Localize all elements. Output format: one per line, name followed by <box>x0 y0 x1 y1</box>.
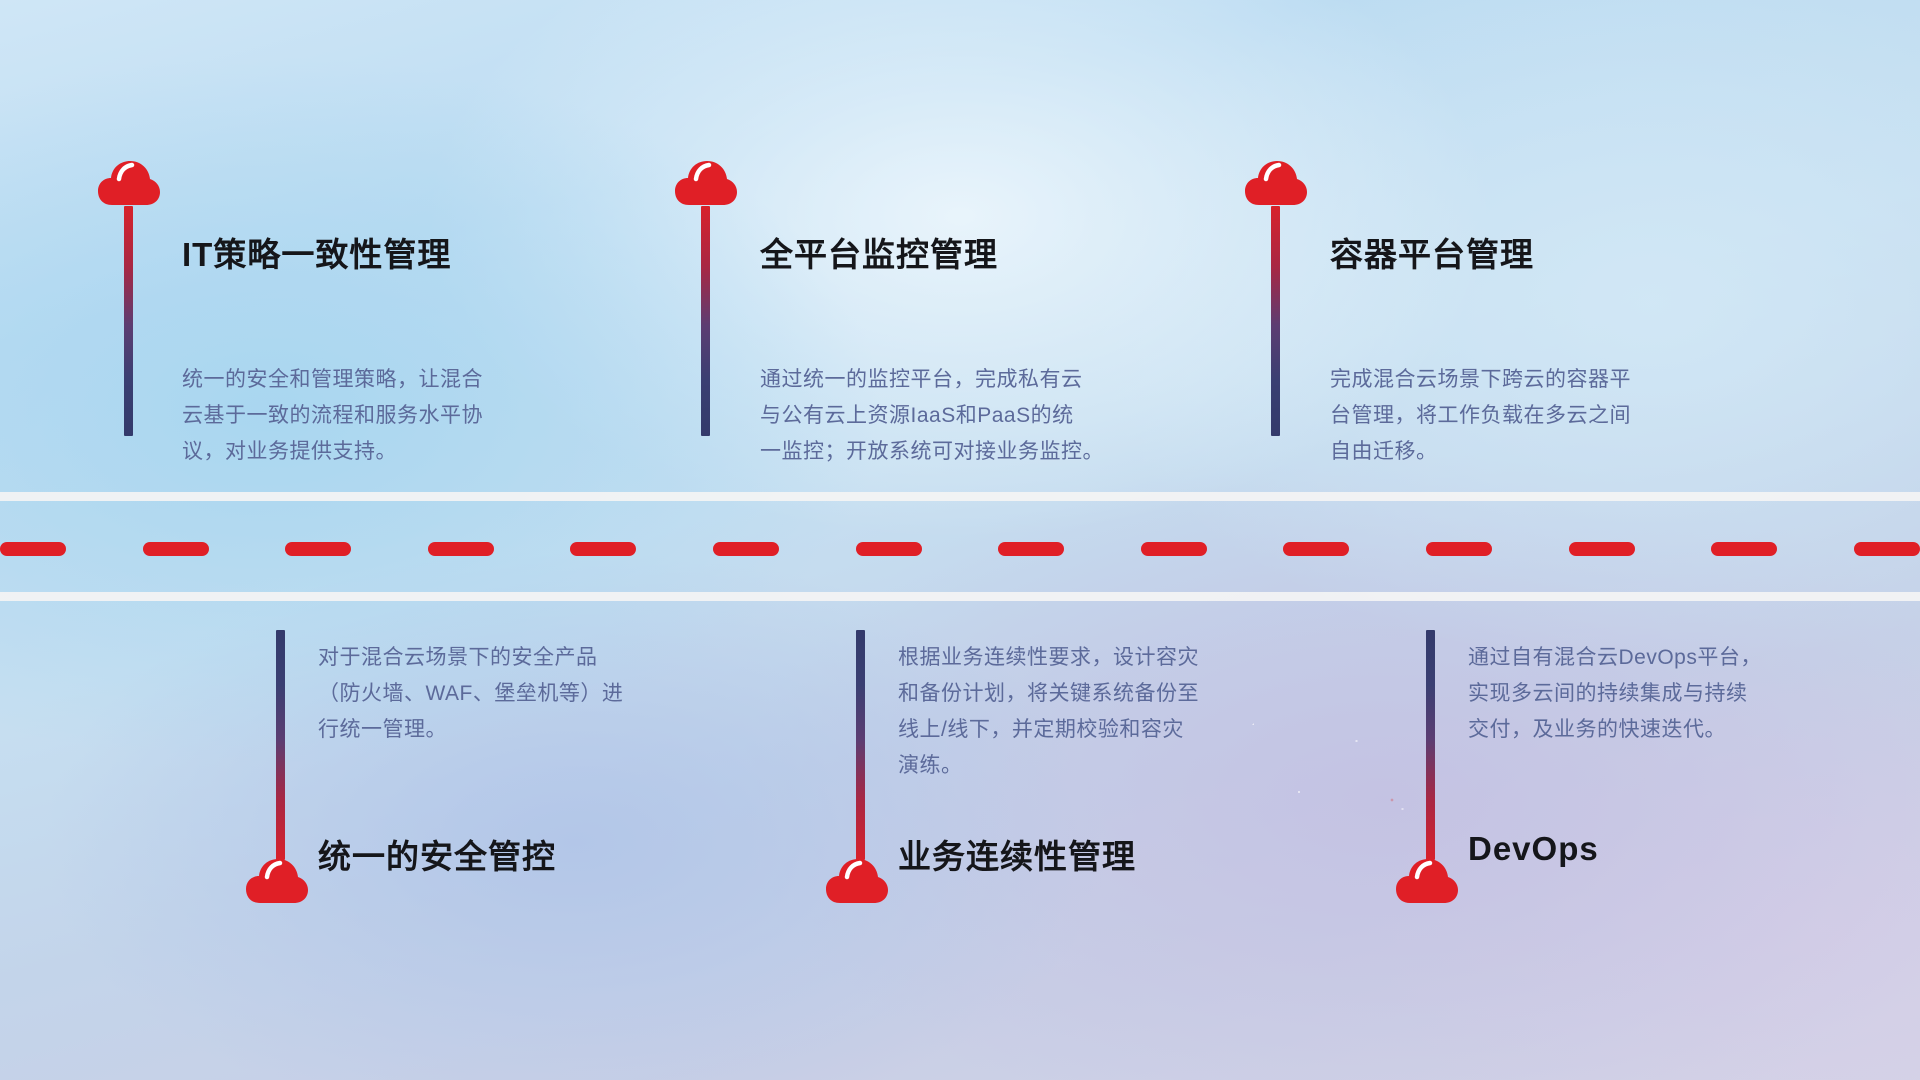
card-bottom-1[interactable] <box>250 630 308 904</box>
cloud-icon <box>246 858 308 904</box>
road-dash <box>1569 542 1635 556</box>
pin-bar-bottom-2 <box>856 630 865 860</box>
body-line: 通过统一的监控平台，完成私有云 <box>760 362 1104 398</box>
card-bottom-2-title: 业务连续性管理 <box>898 830 1136 878</box>
cloud-icon <box>1245 160 1307 206</box>
pin-bar-top-1 <box>124 206 133 436</box>
body-line: 完成混合云场景下跨云的容器平 <box>1330 362 1631 398</box>
body-line: 行统一管理。 <box>318 712 623 748</box>
road-dash <box>1854 542 1920 556</box>
card-top-2-body: 通过统一的监控平台，完成私有云 与公有云上资源IaaS和PaaS的统 一监控；开… <box>760 362 1104 470</box>
road-dash <box>0 542 66 556</box>
road-dash <box>1711 542 1777 556</box>
card-top-2[interactable] <box>675 160 737 436</box>
road-dash <box>285 542 351 556</box>
body-line: 自由迁移。 <box>1330 434 1631 470</box>
infographic-canvas: IT策略一致性管理 统一的安全和管理策略，让混合 云基于一致的流程和服务水平协 … <box>0 0 1920 1080</box>
body-line: 根据业务连续性要求，设计容灾 <box>898 640 1199 676</box>
road-dash <box>570 542 636 556</box>
cloud-icon <box>675 160 737 206</box>
body-line: 统一的安全和管理策略，让混合 <box>182 362 483 398</box>
body-line: 演练。 <box>898 748 1199 784</box>
body-line: 一监控；开放系统可对接业务监控。 <box>760 434 1104 470</box>
card-bottom-2-body: 根据业务连续性要求，设计容灾 和备份计划，将关键系统备份至 线上/线下，并定期校… <box>898 640 1199 784</box>
card-bottom-1-body: 对于混合云场景下的安全产品 （防火墙、WAF、堡垒机等）进 行统一管理。 <box>318 640 623 748</box>
body-line: 通过自有混合云DevOps平台， <box>1468 640 1762 676</box>
marker-bottom-3 <box>1400 630 1458 904</box>
cloud-icon <box>98 160 160 206</box>
road-dash <box>143 542 209 556</box>
pin-bar-bottom-1 <box>276 630 285 860</box>
marker-top-2 <box>675 160 737 436</box>
marker-bottom-1 <box>250 630 308 904</box>
body-line: 议，对业务提供支持。 <box>182 434 483 470</box>
body-line: 云基于一致的流程和服务水平协 <box>182 398 483 434</box>
body-line: 与公有云上资源IaaS和PaaS的统 <box>760 398 1104 434</box>
road-dash <box>1426 542 1492 556</box>
body-line: 和备份计划，将关键系统备份至 <box>898 676 1199 712</box>
card-top-1-body: 统一的安全和管理策略，让混合 云基于一致的流程和服务水平协 议，对业务提供支持。 <box>182 362 483 470</box>
card-top-3-body: 完成混合云场景下跨云的容器平 台管理，将工作负载在多云之间 自由迁移。 <box>1330 362 1631 470</box>
body-line: 实现多云间的持续集成与持续 <box>1468 676 1762 712</box>
marker-top-3 <box>1245 160 1307 436</box>
card-bottom-3-body: 通过自有混合云DevOps平台， 实现多云间的持续集成与持续 交付，及业务的快速… <box>1468 640 1762 748</box>
body-line: 线上/线下，并定期校验和容灾 <box>898 712 1199 748</box>
road-dashed-centerline <box>0 542 1920 556</box>
body-line: 对于混合云场景下的安全产品 <box>318 640 623 676</box>
card-top-1[interactable] <box>98 160 160 436</box>
card-bottom-3[interactable] <box>1400 630 1458 904</box>
card-top-3[interactable] <box>1245 160 1307 436</box>
pin-bar-bottom-3 <box>1426 630 1435 860</box>
body-line: （防火墙、WAF、堡垒机等）进 <box>318 676 623 712</box>
card-bottom-3-title: DevOps <box>1468 830 1599 868</box>
body-line: 交付，及业务的快速迭代。 <box>1468 712 1762 748</box>
pin-bar-top-3 <box>1271 206 1280 436</box>
road-dash <box>1141 542 1207 556</box>
cloud-icon <box>826 858 888 904</box>
road-dash <box>856 542 922 556</box>
road-dash <box>713 542 779 556</box>
body-line: 台管理，将工作负载在多云之间 <box>1330 398 1631 434</box>
road-dash <box>1283 542 1349 556</box>
card-bottom-2[interactable] <box>830 630 888 904</box>
marker-top-1 <box>98 160 160 436</box>
pin-bar-top-2 <box>701 206 710 436</box>
road-dash <box>998 542 1064 556</box>
road-line-top <box>0 492 1920 501</box>
marker-bottom-2 <box>830 630 888 904</box>
road-dash <box>428 542 494 556</box>
card-top-2-title: 全平台监控管理 <box>760 228 998 276</box>
cloud-icon <box>1396 858 1458 904</box>
card-top-3-title: 容器平台管理 <box>1330 228 1534 276</box>
card-bottom-1-title: 统一的安全管控 <box>318 830 556 878</box>
card-top-1-title: IT策略一致性管理 <box>182 228 451 276</box>
road-line-bottom <box>0 592 1920 601</box>
